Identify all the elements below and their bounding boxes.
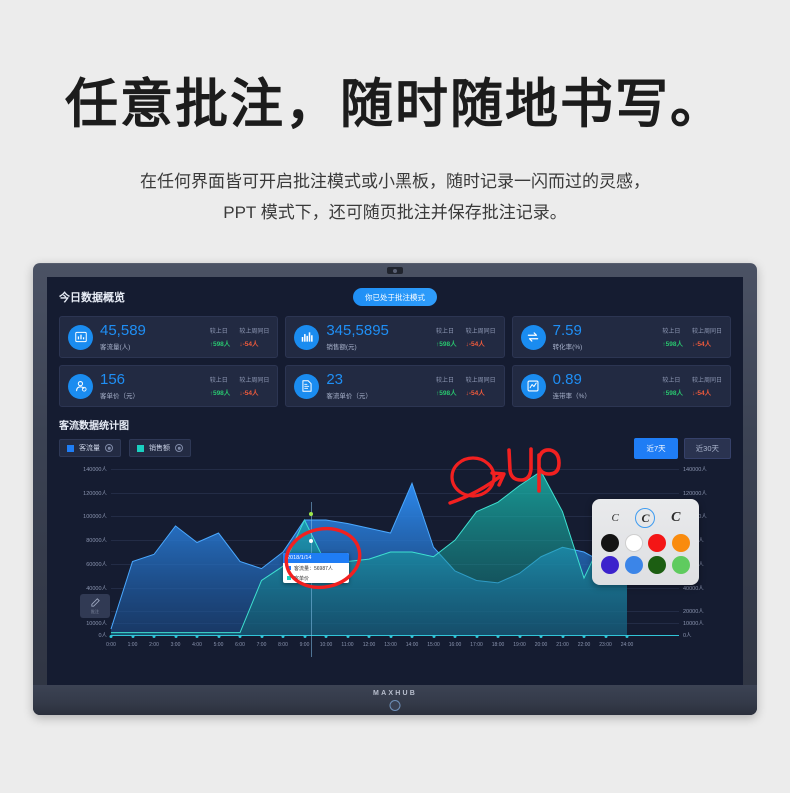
color-swatch-dark-green[interactable]	[648, 556, 666, 574]
stat-card[interactable]: 345,5895 销售额(元) 较上日 ↑598人 较上周同日 ↓-54人	[285, 316, 504, 358]
x-axis-tick: 23:00	[599, 642, 612, 648]
stat-card-deltas: 较上日 ↑598人 较上周同日 ↓-54人	[210, 375, 270, 397]
delta-value-down: ↓-54人	[466, 387, 496, 397]
delta-prev-week: 较上周同日 ↓-54人	[239, 375, 269, 397]
x-axis-dot	[368, 635, 371, 638]
stat-card-label: 客流量(人)	[100, 341, 210, 351]
stat-card-icon-wrap	[68, 325, 93, 350]
delta-value-up: ↑598人	[662, 387, 683, 397]
x-axis-tick: 14:00	[406, 642, 419, 648]
delta-value-down: ↓-54人	[239, 338, 269, 348]
delta-prev-week: 较上周同日 ↓-54人	[692, 375, 722, 397]
x-axis-dot	[196, 635, 199, 638]
x-axis-dot	[110, 635, 113, 638]
delta-prev-week: 较上周同日 ↓-54人	[466, 375, 496, 397]
stat-card-icon-wrap	[521, 325, 546, 350]
stat-card[interactable]: 23 客流单价（元） 较上日 ↑598人 较上周同日 ↓-54人	[285, 365, 504, 407]
chart-tooltip: 2018/1/14 客流量：56987人 客单价	[283, 553, 349, 583]
x-axis-dot	[626, 635, 629, 638]
tooltip-label-sales: 客单价	[294, 575, 309, 582]
stat-card-value: 45,589	[100, 323, 210, 339]
hover-point-sales	[309, 512, 313, 516]
x-axis-tick: 17:00	[470, 642, 483, 648]
chart-series-svg	[59, 465, 679, 650]
y-axis-tick-right: 120000人	[683, 489, 727, 497]
stat-card-main: 0.89 连带率（%）	[553, 372, 663, 400]
delta-value-up: ↑598人	[662, 338, 683, 348]
checkbox-chart-icon	[526, 379, 540, 393]
x-axis-tick: 11:00	[341, 642, 353, 648]
x-axis-tick: 13:00	[384, 642, 397, 648]
device-screen: 今日数据概览 你已处于批注模式 45,589 客流量(人) 较上日 ↑598人 …	[47, 277, 743, 685]
color-swatch-orange[interactable]	[672, 534, 690, 552]
x-axis-dot	[518, 635, 521, 638]
bezel-highlight	[33, 263, 757, 264]
page-subtitle: 在任何界面皆可开启批注模式或小黑板，随时记录一闪而过的灵感， PPT 模式下，还…	[0, 166, 790, 229]
stat-card[interactable]: 7.59 转化率(%) 较上日 ↑598人 较上周同日 ↓-54人	[512, 316, 731, 358]
range-button-group: 近7天 近30天	[634, 438, 731, 459]
document-icon	[300, 379, 314, 393]
eye-toggle-icon[interactable]	[175, 444, 183, 452]
x-axis-tick: 18:00	[492, 642, 505, 648]
x-axis-dot	[497, 635, 500, 638]
legend-label-traffic: 客流量	[79, 443, 100, 453]
x-axis-dot	[561, 635, 564, 638]
x-axis-dot	[174, 635, 177, 638]
x-axis-dot	[432, 635, 435, 638]
device-bottom-bezel: MAXHUB	[33, 685, 757, 715]
delta-title: 较上日	[662, 326, 683, 335]
delta-prev-week: 较上周同日 ↓-54人	[692, 326, 722, 348]
x-axis-tick: 4:00	[192, 642, 202, 648]
color-swatch-white[interactable]	[625, 534, 643, 552]
x-axis-dot	[325, 635, 328, 638]
stat-card[interactable]: 45,589 客流量(人) 较上日 ↑598人 较上周同日 ↓-54人	[59, 316, 278, 358]
floating-pen-button[interactable]: 批注	[80, 594, 110, 618]
delta-title: 较上日	[210, 326, 231, 335]
stat-card-label: 销售额(元)	[326, 341, 436, 351]
x-axis-dot	[282, 635, 285, 638]
legend-item-sales[interactable]: 销售额	[129, 439, 191, 457]
x-axis-tick: 19:00	[513, 642, 526, 648]
legend-item-traffic[interactable]: 客流量	[59, 439, 121, 457]
tooltip-row-sales: 客单价	[283, 573, 349, 583]
dashboard: 今日数据概览 你已处于批注模式 45,589 客流量(人) 较上日 ↑598人 …	[47, 277, 743, 685]
page-root: 任意批注，随时随地书写。 在任何界面皆可开启批注模式或小黑板，随时记录一闪而过的…	[0, 0, 790, 793]
x-axis-dot	[346, 635, 349, 638]
delta-title: 较上日	[210, 375, 231, 384]
x-axis-dot	[260, 635, 263, 638]
x-axis-dot	[389, 635, 392, 638]
stat-card-value: 156	[100, 372, 210, 388]
stat-card-deltas: 较上日 ↑598人 较上周同日 ↓-54人	[662, 326, 722, 348]
delta-prev-day: 较上日 ↑598人	[210, 326, 231, 348]
stat-card-deltas: 较上日 ↑598人 较上周同日 ↓-54人	[210, 326, 270, 348]
delta-value-down: ↓-54人	[466, 338, 496, 348]
stat-card-deltas: 较上日 ↑598人 较上周同日 ↓-54人	[662, 375, 722, 397]
x-axis-tick: 10:00	[320, 642, 333, 648]
delta-title: 较上周同日	[239, 375, 269, 384]
pen-icon	[90, 597, 101, 608]
x-axis-dot	[540, 635, 543, 638]
x-axis-tick: 15:00	[427, 642, 440, 648]
delta-title: 较上周同日	[239, 326, 269, 335]
x-axis-tick: 3:00	[171, 642, 181, 648]
delta-title: 较上周同日	[466, 375, 496, 384]
floating-pen-label: 批注	[91, 609, 99, 615]
color-swatch-black[interactable]	[601, 534, 619, 552]
conversion-icon	[526, 330, 540, 344]
delta-value-down: ↓-54人	[239, 387, 269, 397]
x-axis-tick: 6:00	[235, 642, 245, 648]
delta-title: 较上日	[662, 375, 683, 384]
x-axis-dot	[153, 635, 156, 638]
x-axis-tick: 1:00	[128, 642, 138, 648]
x-axis-tick: 24:00	[621, 642, 634, 648]
stat-card-value: 23	[326, 372, 436, 388]
x-axis-tick: 0:00	[106, 642, 116, 648]
x-axis-dot	[239, 635, 242, 638]
delta-value-down: ↓-54人	[692, 387, 722, 397]
stat-card-grid: 45,589 客流量(人) 较上日 ↑598人 较上周同日 ↓-54人 345,…	[59, 316, 731, 407]
range-button-7days[interactable]: 近7天	[634, 438, 677, 459]
chart-controls: 客流量 销售额 近7天 近30天	[59, 439, 731, 457]
range-button-30days[interactable]: 近30天	[684, 438, 731, 459]
x-axis-tick: 7:00	[257, 642, 267, 648]
delta-title: 较上周同日	[692, 375, 722, 384]
x-axis-tick: 22:00	[578, 642, 591, 648]
stat-card-value: 7.59	[553, 323, 663, 339]
eye-toggle-icon[interactable]	[105, 444, 113, 452]
power-button[interactable]	[390, 700, 401, 711]
y-axis-tick-right: 20000人	[683, 607, 727, 615]
pen-size-row: C C C	[600, 506, 691, 530]
stat-card-main: 45,589 客流量(人)	[100, 323, 210, 351]
stat-card-main: 23 客流单价（元）	[326, 372, 436, 400]
page-headline: 任意批注，随时随地书写。	[0, 0, 790, 136]
color-swatch-indigo[interactable]	[601, 556, 619, 574]
delta-title: 较上周同日	[466, 326, 496, 335]
x-axis-dot	[604, 635, 607, 638]
delta-prev-day: 较上日 ↑598人	[662, 326, 683, 348]
legend-label-sales: 销售额	[149, 443, 170, 453]
pen-size-medium-selected[interactable]: C	[635, 508, 655, 528]
x-axis-tick: 16:00	[449, 642, 462, 648]
x-axis-dot	[475, 635, 478, 638]
delta-prev-day: 较上日 ↑598人	[436, 326, 457, 348]
x-axis-dot	[583, 635, 586, 638]
stat-card-icon-wrap	[294, 325, 319, 350]
stat-card-value: 345,5895	[326, 323, 436, 339]
delta-prev-day: 较上日 ↑598人	[210, 375, 231, 397]
stat-card-label: 转化率(%)	[553, 341, 663, 351]
x-axis-dot	[303, 635, 306, 638]
tooltip-swatch-traffic	[287, 566, 291, 570]
delta-prev-week: 较上周同日 ↓-54人	[466, 326, 496, 348]
stat-card-label: 连带率（%）	[553, 390, 663, 400]
stat-card[interactable]: 0.89 连带率（%） 较上日 ↑598人 较上周同日 ↓-54人	[512, 365, 731, 407]
delta-title: 较上日	[436, 326, 457, 335]
x-axis-dot	[454, 635, 457, 638]
subtitle-line-1: 在任何界面皆可开启批注模式或小黑板，随时记录一闪而过的灵感，	[0, 166, 790, 197]
x-axis-tick: 8:00	[278, 642, 288, 648]
x-axis-tick: 12:00	[363, 642, 376, 648]
subtitle-line-2: PPT 模式下，还可随页批注并保存批注记录。	[0, 197, 790, 228]
delta-value-down: ↓-54人	[692, 338, 722, 348]
x-axis-tick: 9:00	[300, 642, 310, 648]
annotation-mode-badge: 你已处于批注模式	[353, 288, 437, 306]
stat-card-deltas: 较上日 ↑598人 较上周同日 ↓-54人	[436, 326, 496, 348]
stat-card-icon-wrap	[294, 374, 319, 399]
x-axis-tick: 21:00	[556, 642, 569, 648]
hover-point-traffic	[309, 539, 313, 543]
y-axis-tick-right: 10000人	[683, 619, 727, 627]
x-axis-dot	[217, 635, 220, 638]
legend-swatch-traffic	[67, 445, 74, 452]
bar-chart-box-icon	[74, 330, 88, 344]
color-palette-panel[interactable]: C C C	[592, 499, 699, 585]
stat-card-main: 7.59 转化率(%)	[553, 323, 663, 351]
x-axis-tick: 2:00	[149, 642, 159, 648]
user-icon	[74, 379, 88, 393]
x-axis-tick: 20:00	[535, 642, 548, 648]
delta-value-up: ↑598人	[210, 338, 231, 348]
y-axis-tick-right: 0人	[683, 631, 727, 639]
tooltip-swatch-sales	[287, 576, 291, 580]
delta-title: 较上日	[436, 375, 457, 384]
x-axis-dot	[411, 635, 414, 638]
stat-card-deltas: 较上日 ↑598人 较上周同日 ↓-54人	[436, 375, 496, 397]
maxhub-display-device: 今日数据概览 你已处于批注模式 45,589 客流量(人) 较上日 ↑598人 …	[33, 263, 757, 715]
color-swatch-red[interactable]	[648, 534, 666, 552]
stat-card-icon-wrap	[521, 374, 546, 399]
stat-card[interactable]: 156 客单价（元） 较上日 ↑598人 较上周同日 ↓-54人	[59, 365, 278, 407]
pen-size-thin[interactable]: C	[605, 508, 625, 528]
delta-value-up: ↑598人	[210, 387, 231, 397]
stat-card-main: 156 客单价（元）	[100, 372, 210, 400]
delta-prev-week: 较上周同日 ↓-54人	[239, 326, 269, 348]
delta-value-up: ↑598人	[436, 387, 457, 397]
dashboard-header: 今日数据概览 你已处于批注模式	[59, 287, 731, 307]
tooltip-label-traffic: 客流量：56987人	[294, 565, 333, 572]
stat-card-icon-wrap	[68, 374, 93, 399]
color-swatch-blue[interactable]	[625, 556, 643, 574]
stat-card-label: 客流单价（元）	[326, 390, 436, 400]
tooltip-row-traffic: 客流量：56987人	[283, 563, 349, 573]
bar-chart-icon	[300, 330, 314, 344]
x-axis-tick: 5:00	[214, 642, 224, 648]
dashboard-title: 今日数据概览	[59, 289, 125, 305]
brand-logo: MAXHUB	[373, 690, 417, 697]
y-axis-tick-right: 140000人	[683, 465, 727, 473]
x-axis-dot	[131, 635, 134, 638]
legend-swatch-sales	[137, 445, 144, 452]
stat-card-main: 345,5895 销售额(元)	[326, 323, 436, 351]
chart-title: 客流数据统计图	[59, 417, 731, 432]
delta-prev-day: 较上日 ↑598人	[662, 375, 683, 397]
delta-title: 较上周同日	[692, 326, 722, 335]
tooltip-date: 2018/1/14	[283, 553, 349, 563]
stat-card-label: 客单价（元）	[100, 390, 210, 400]
camera-icon	[387, 267, 403, 274]
color-swatch-grid	[600, 534, 691, 574]
pen-size-thick[interactable]: C	[666, 508, 686, 528]
delta-value-up: ↑598人	[436, 338, 457, 348]
delta-prev-day: 较上日 ↑598人	[436, 375, 457, 397]
stat-card-value: 0.89	[553, 372, 663, 388]
color-swatch-green[interactable]	[672, 556, 690, 574]
device-bezel: 今日数据概览 你已处于批注模式 45,589 客流量(人) 较上日 ↑598人 …	[33, 263, 757, 715]
